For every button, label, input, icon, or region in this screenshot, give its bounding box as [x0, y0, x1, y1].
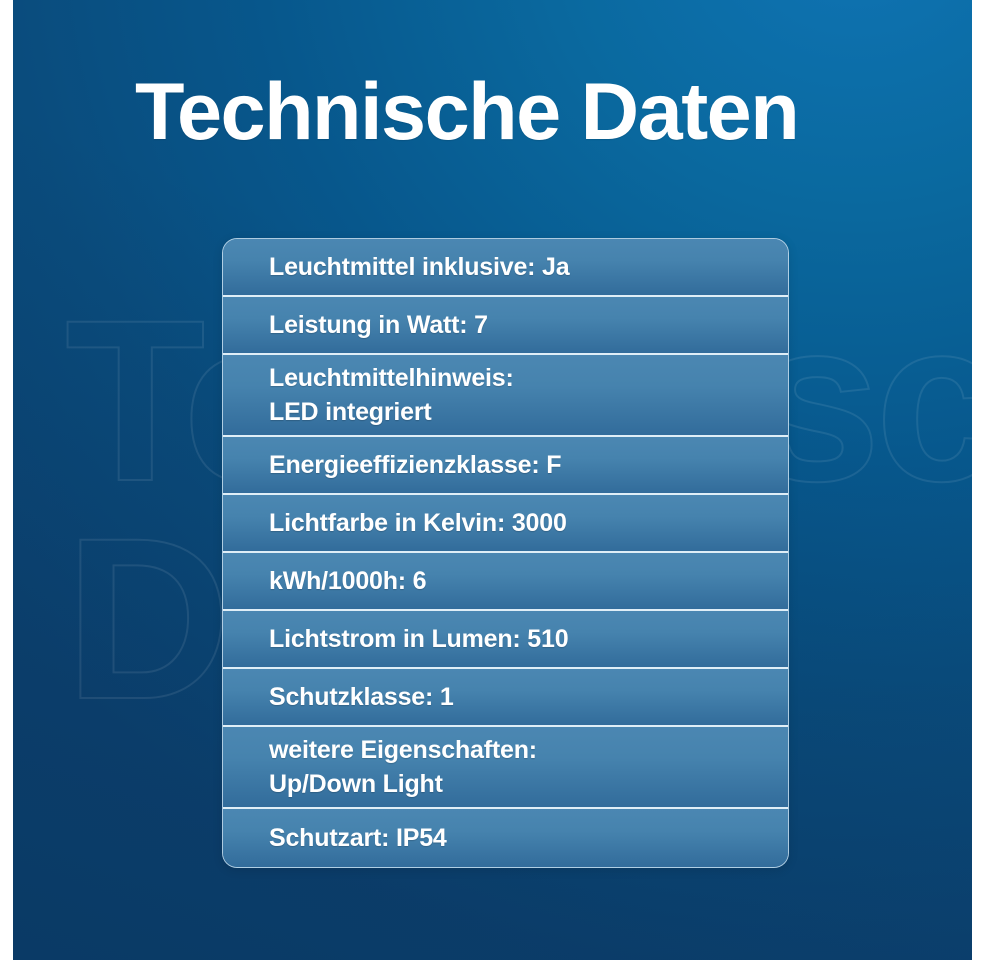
- blue-background-panel: Technische Details Technische Daten Leuc…: [13, 0, 972, 960]
- technical-specs-card: Leuchtmittel inklusive: JaLeistung in Wa…: [222, 238, 789, 868]
- table-row: weitere Eigenschaften: Up/Down Light: [223, 727, 788, 809]
- spec-row-text: Lichtfarbe in Kelvin: 3000: [269, 506, 768, 540]
- spec-row-text: Schutzart: IP54: [269, 821, 768, 855]
- table-row: Leuchtmittelhinweis: LED integriert: [223, 355, 788, 437]
- table-row: Leuchtmittel inklusive: Ja: [223, 239, 788, 297]
- table-row: Leistung in Watt: 7: [223, 297, 788, 355]
- spec-row-text: weitere Eigenschaften: Up/Down Light: [269, 733, 768, 801]
- table-row: Energieeffizienzklasse: F: [223, 437, 788, 495]
- spec-row-text: Leuchtmittelhinweis: LED integriert: [269, 361, 768, 429]
- table-row: Schutzklasse: 1: [223, 669, 788, 727]
- table-row: Schutzart: IP54: [223, 809, 788, 867]
- spec-row-text: Leistung in Watt: 7: [269, 308, 768, 342]
- table-row: Lichtfarbe in Kelvin: 3000: [223, 495, 788, 553]
- spec-row-text: Energieeffizienzklasse: F: [269, 448, 768, 482]
- page-title: Technische Daten: [135, 72, 798, 153]
- table-row: Lichtstrom in Lumen: 510: [223, 611, 788, 669]
- spec-row-text: Lichtstrom in Lumen: 510: [269, 622, 768, 656]
- spec-row-text: Schutzklasse: 1: [269, 680, 768, 714]
- spec-row-text: Leuchtmittel inklusive: Ja: [269, 250, 768, 284]
- spec-row-text: kWh/1000h: 6: [269, 564, 768, 598]
- screenshot-root: Technische Details Technische Daten Leuc…: [0, 0, 985, 960]
- table-row: kWh/1000h: 6: [223, 553, 788, 611]
